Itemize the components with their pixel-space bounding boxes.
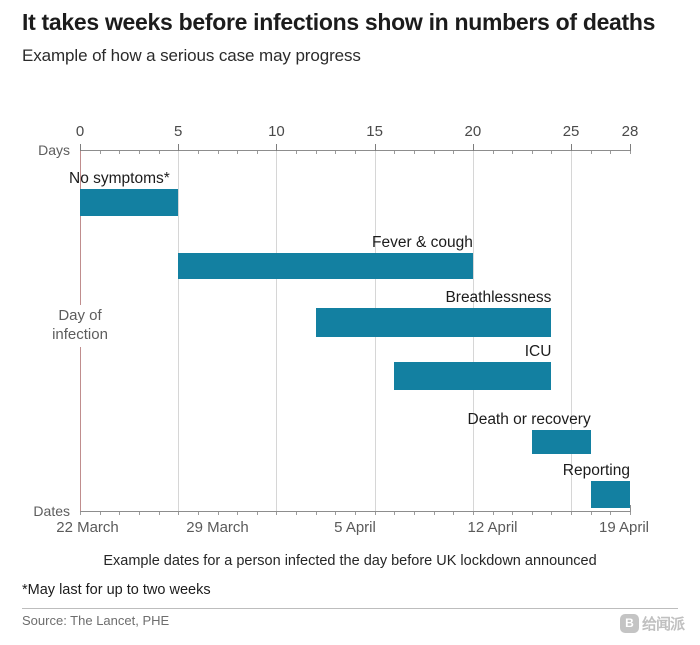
tick-minor-day-4 [159,151,160,154]
tick-major-day-20 [473,144,474,151]
date-caption: Example dates for a person infected the … [0,553,700,569]
bar-label-icu: ICU [525,343,552,361]
tick-minor-date-0 [80,512,81,515]
tick-major-day-5 [178,144,179,151]
tick-minor-day-12 [316,151,317,154]
tick-minor-day-22 [512,151,513,154]
tick-label-date-28: 19 April [599,519,649,536]
tick-label-day-25: 25 [563,123,580,140]
chart-subtitle: Example of how a serious case may progre… [22,46,662,66]
tick-label-date-14: 5 April [334,519,376,536]
tick-minor-day-7 [218,151,219,154]
tick-minor-date-28 [630,512,631,515]
axis-label-dates: Dates [2,503,70,519]
tick-major-day-10 [276,144,277,151]
watermark-logo: B 给闻派 [572,610,684,636]
tick-minor-day-27 [610,151,611,154]
tick-minor-date-6 [198,512,199,515]
tick-major-day-25 [571,144,572,151]
tick-minor-date-21 [493,512,494,515]
tick-minor-date-11 [296,512,297,515]
tick-minor-date-2 [119,512,120,515]
tick-minor-date-1 [100,512,101,515]
page-title: It takes weeks before infections show in… [22,8,662,37]
tick-label-date-21: 12 April [467,519,517,536]
watermark-label: 给闻派 [642,613,684,634]
tick-label-date-0: 22 March [56,519,119,536]
tick-minor-day-8 [237,151,238,154]
tick-minor-date-18 [434,512,435,515]
gridline-day-10 [276,151,277,511]
tick-minor-date-13 [335,512,336,515]
bar-breathlessness [316,308,552,337]
tick-label-day-0: 0 [76,123,84,140]
tick-label-day-20: 20 [465,123,482,140]
tick-minor-day-2 [119,151,120,154]
tick-minor-day-11 [296,151,297,154]
tick-minor-day-21 [493,151,494,154]
chart-header: It takes weeks before infections show in… [22,8,662,66]
tick-minor-date-7 [218,512,219,515]
tick-minor-day-1 [100,151,101,154]
tick-minor-date-14 [355,512,356,515]
tick-major-day-15 [375,144,376,151]
tick-minor-date-16 [394,512,395,515]
watermark-badge-icon: B [620,614,639,633]
tick-minor-day-14 [355,151,356,154]
tick-minor-day-19 [453,151,454,154]
tick-minor-day-13 [335,151,336,154]
bar-fever-cough [178,253,473,279]
bar-reporting [591,481,630,508]
tick-minor-day-17 [414,151,415,154]
tick-label-day-15: 15 [366,123,383,140]
tick-label-day-10: 10 [268,123,285,140]
source-text: Source: The Lancet, PHE [22,613,169,628]
bar-label-reporting: Reporting [563,462,630,480]
tick-minor-day-28 [630,151,631,154]
bar-label-breathlessness: Breathlessness [445,289,551,307]
tick-minor-date-23 [532,512,533,515]
tick-minor-day-26 [591,151,592,154]
bar-label-no-symptoms: No symptoms* [69,170,170,188]
bar-death-or-recovery [532,430,591,454]
tick-minor-date-25 [571,512,572,515]
tick-minor-date-15 [375,512,376,515]
tick-minor-date-8 [237,512,238,515]
tick-major-day-28 [630,144,631,151]
tick-minor-day-3 [139,151,140,154]
gridline-day-25 [571,151,572,511]
bar-no-symptoms [80,189,178,216]
bar-icu [394,362,551,390]
footnote: *May last for up to two weeks [22,582,211,598]
tick-minor-date-4 [159,512,160,515]
source-divider [22,608,678,609]
tick-minor-day-23 [532,151,533,154]
tick-minor-date-26 [591,512,592,515]
tick-minor-date-9 [257,512,258,515]
chart-plot-area: Days Dates 05101520252822 March29 March5… [0,130,700,530]
tick-minor-date-20 [473,512,474,515]
tick-label-day-28: 28 [622,123,639,140]
tick-minor-date-27 [610,512,611,515]
tick-label-date-7: 29 March [186,519,249,536]
bar-label-fever-cough: Fever & cough [372,234,473,252]
bar-label-death-or-recovery: Death or recovery [468,411,591,429]
tick-label-day-5: 5 [174,123,182,140]
tick-minor-date-24 [551,512,552,515]
day-of-infection-label: Day ofinfection [46,305,114,347]
tick-major-day-0 [80,144,81,151]
tick-minor-date-3 [139,512,140,515]
gridline-day-5 [178,151,179,511]
tick-minor-date-17 [414,512,415,515]
tick-minor-date-5 [178,512,179,515]
tick-minor-date-22 [512,512,513,515]
tick-minor-day-18 [434,151,435,154]
tick-minor-day-6 [198,151,199,154]
bottom-axis-end-cap [630,505,631,512]
tick-minor-day-9 [257,151,258,154]
tick-minor-day-24 [551,151,552,154]
axis-label-days: Days [2,142,70,158]
tick-minor-date-12 [316,512,317,515]
tick-minor-date-19 [453,512,454,515]
tick-minor-date-10 [276,512,277,515]
tick-minor-day-16 [394,151,395,154]
